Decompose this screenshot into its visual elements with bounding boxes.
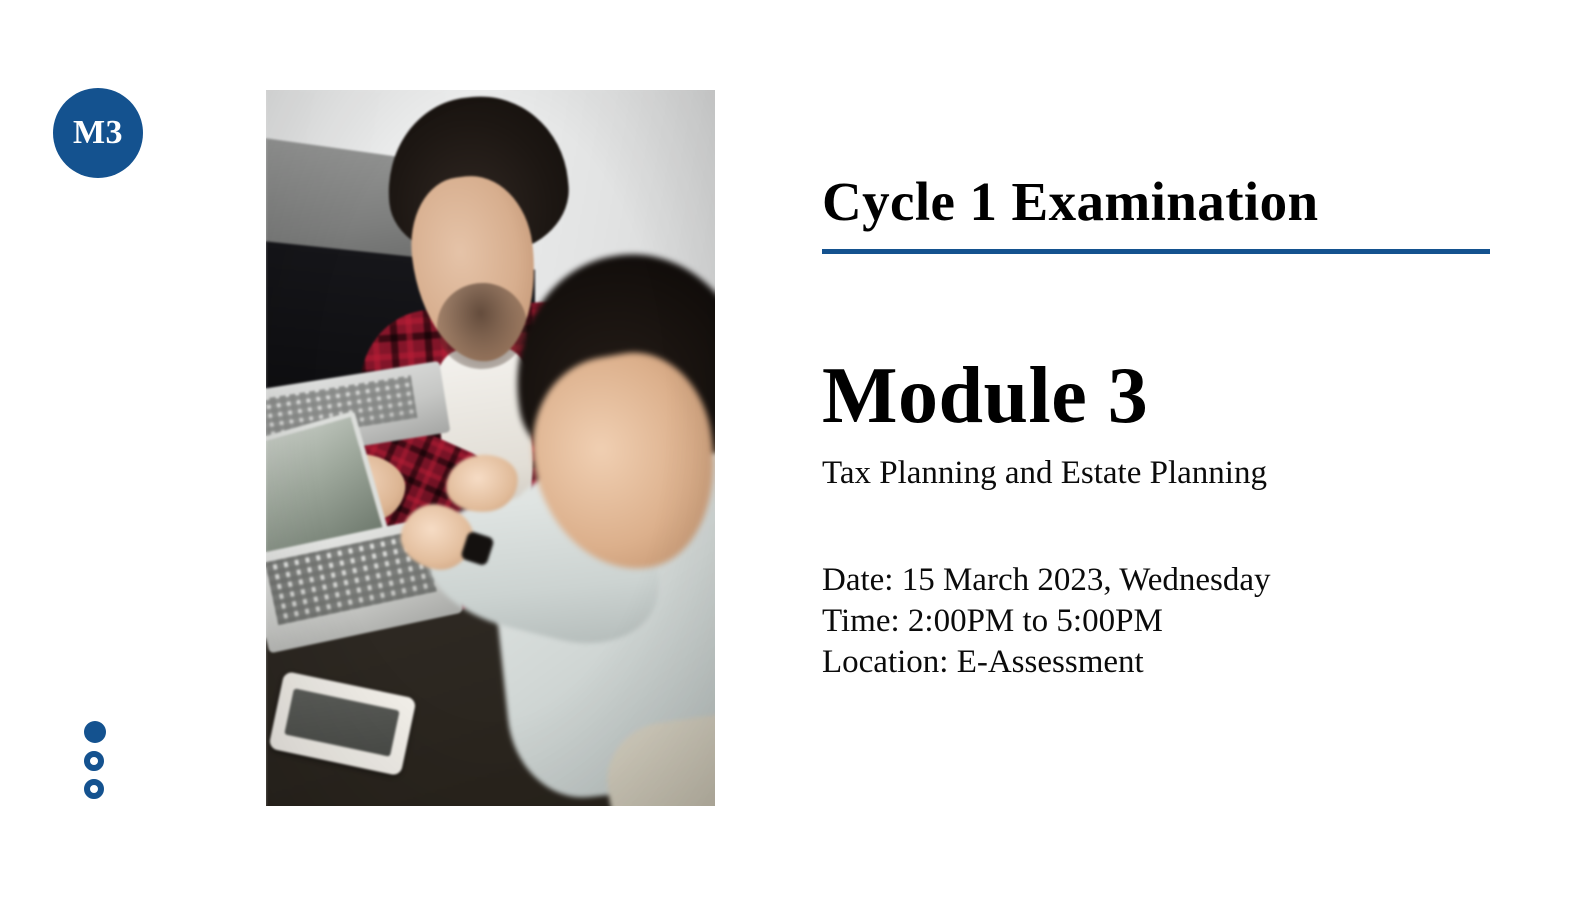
- text-column: Cycle 1 Examination Module 3 Tax Plannin…: [822, 172, 1512, 684]
- dot-ring-icon: [84, 779, 104, 799]
- module-subtitle: Tax Planning and Estate Planning: [822, 438, 1512, 494]
- exam-details: Date: 15 March 2023, Wednesday Time: 2:0…: [822, 494, 1512, 684]
- module-badge-label: M3: [73, 116, 123, 150]
- dot-filled-icon: [84, 721, 106, 743]
- photo-scene: [266, 90, 715, 806]
- exam-announcement-slide: M3: [0, 0, 1575, 900]
- decorative-dot-stack: [84, 721, 112, 807]
- exam-detail-time: Time: 2:00PM to 5:00PM: [822, 601, 1512, 642]
- module-badge: M3: [53, 88, 143, 178]
- dot-ring-icon: [84, 751, 104, 771]
- module-name: Module 3: [822, 254, 1512, 438]
- exam-detail-location: Location: E-Assessment: [822, 642, 1512, 683]
- exam-title: Cycle 1 Examination: [822, 172, 1512, 231]
- hero-photo: [266, 90, 715, 806]
- exam-detail-date: Date: 15 March 2023, Wednesday: [822, 560, 1512, 601]
